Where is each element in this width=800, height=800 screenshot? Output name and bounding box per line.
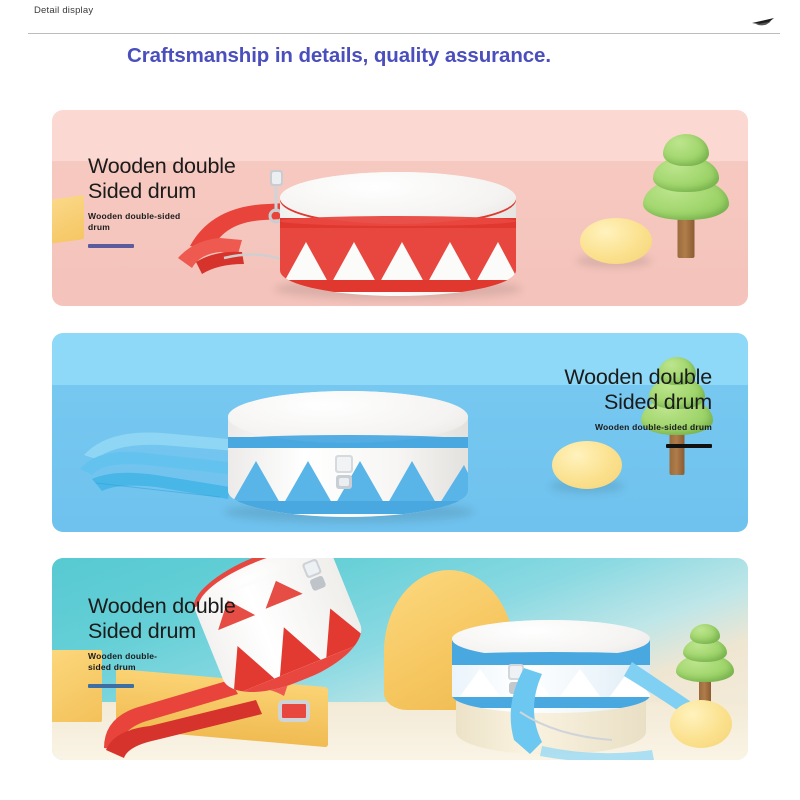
panel-heading: Wooden double Sided drum bbox=[88, 594, 318, 644]
detail-display-page: Detail display Craftsmanship in details,… bbox=[0, 0, 800, 800]
panel-blue-drum[interactable]: Wooden double Sided drum Wooden double-s… bbox=[52, 333, 748, 532]
accent-bar bbox=[88, 244, 134, 248]
panel-2-copy: Wooden double Sided drum Wooden double-s… bbox=[452, 365, 712, 448]
page-header: Detail display bbox=[0, 0, 800, 36]
panel-both-drums[interactable]: Wooden double Sided drum Wooden double- … bbox=[52, 558, 748, 760]
yellow-box-prop bbox=[52, 195, 84, 245]
blue-white-drum bbox=[228, 391, 468, 519]
drum-buckle bbox=[326, 453, 362, 499]
panel-heading: Wooden double Sided drum bbox=[88, 154, 318, 204]
green-tree bbox=[640, 128, 732, 258]
yellow-blob bbox=[580, 218, 652, 264]
accent-bar bbox=[666, 444, 712, 448]
brand-arrow-icon bbox=[750, 14, 776, 28]
yellow-blob bbox=[670, 700, 732, 748]
strap-buckle bbox=[278, 700, 310, 722]
green-tree bbox=[674, 614, 736, 710]
header-divider bbox=[28, 33, 780, 34]
accent-bar bbox=[88, 684, 134, 688]
panel-3-copy: Wooden double Sided drum Wooden double- … bbox=[88, 594, 318, 688]
page-title: Craftsmanship in details, quality assura… bbox=[127, 44, 597, 68]
panel-1-copy: Wooden double Sided drum Wooden double-s… bbox=[88, 154, 318, 248]
header-label: Detail display bbox=[34, 5, 124, 17]
panel-red-drum[interactable]: Wooden double Sided drum Wooden double-s… bbox=[52, 110, 748, 306]
panel-subheading: Wooden double- sided drum bbox=[88, 651, 318, 673]
yellow-blob bbox=[552, 441, 622, 489]
panel-heading: Wooden double Sided drum bbox=[452, 365, 712, 415]
panel-subheading: Wooden double-sided drum bbox=[452, 422, 712, 433]
panel-subheading: Wooden double-sided drum bbox=[88, 211, 318, 233]
